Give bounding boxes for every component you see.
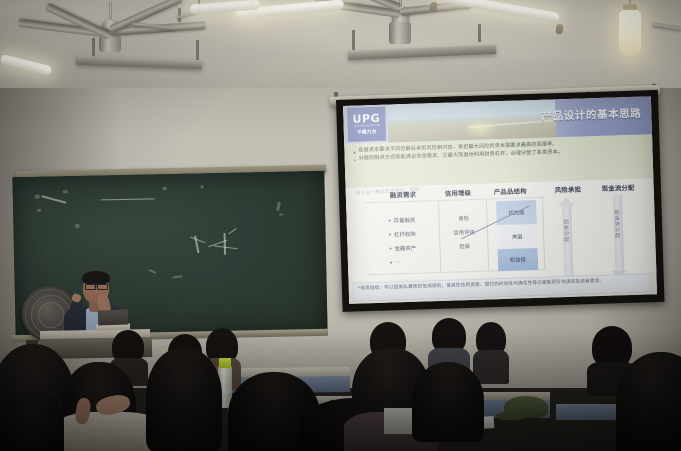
student-foreground bbox=[412, 362, 484, 442]
diagram-rule bbox=[542, 197, 545, 269]
cap-brim bbox=[496, 412, 526, 420]
diagram-rule bbox=[438, 200, 441, 272]
presentation-slide: UPG your dreams for real 中鑫力合 产品设计的基本思路 … bbox=[343, 96, 657, 304]
tier-mezzanine: 夹层 bbox=[497, 224, 538, 249]
list-item: 保险 bbox=[443, 214, 483, 223]
column-header-risk-bearing: 风险承担 bbox=[555, 185, 582, 195]
upg-logo: UPG your dreams for real 中鑫力合 bbox=[347, 107, 386, 142]
ceiling-fan bbox=[108, 2, 112, 52]
list-item: 担保 bbox=[444, 242, 484, 251]
column-header-financing-demand: 融资需求 bbox=[390, 190, 417, 200]
tier-equity: 权益级 bbox=[498, 248, 539, 271]
pendant-lamp bbox=[619, 10, 641, 56]
cashflow-arrow: 现金流分配 bbox=[608, 195, 629, 282]
column-header-cashflow: 现金流分配 bbox=[602, 183, 635, 193]
logo-chinese-name: 中鑫力合 bbox=[357, 129, 377, 136]
beam-hanger bbox=[352, 30, 355, 50]
glasses-bridge bbox=[94, 286, 97, 287]
tier-senior: 优先级 bbox=[496, 200, 537, 225]
chair-back bbox=[556, 404, 616, 420]
bottle-cap-green bbox=[219, 358, 231, 368]
student-with-cap bbox=[504, 392, 548, 426]
arrow-label-cashflow-allocation: 现金流分配 bbox=[613, 209, 621, 238]
column-header-product-structure: 产品品结构 bbox=[494, 186, 527, 196]
diagram-rule bbox=[486, 199, 489, 271]
ceiling-fan bbox=[398, 0, 402, 52]
column-header-credit-rating: 信用增级 bbox=[445, 188, 472, 198]
beam-hanger bbox=[478, 24, 481, 42]
list-item: 杠杆收购 bbox=[389, 230, 416, 239]
classroom-scene: Tecdream UPG your dreams for real 中鑫力合 产… bbox=[0, 0, 681, 451]
product-structure-stack: 优先级 夹层 权益级 bbox=[496, 200, 538, 271]
list-item: … bbox=[390, 258, 401, 264]
projector-screen[interactable]: UPG your dreams for real 中鑫力合 产品设计的基本思路 … bbox=[343, 96, 657, 304]
slide-title: 产品设计的基本思路 bbox=[541, 106, 641, 124]
slide-diagram: 对于这个模式的注意力、风险 融资需求 信用增级 产品品结构 风险承担 现金流分配… bbox=[346, 178, 657, 282]
presenter-hair bbox=[82, 271, 110, 285]
student-foreground bbox=[146, 348, 222, 451]
beam-hanger bbox=[196, 40, 199, 60]
header-photo bbox=[387, 99, 556, 142]
student bbox=[476, 322, 506, 382]
laptop-lid bbox=[98, 309, 129, 325]
glasses-right-lens bbox=[97, 284, 108, 290]
list-item: 金融资产 bbox=[389, 244, 416, 253]
arrow-label-loss-allocation: 损失分配 bbox=[563, 219, 571, 242]
risk-bearing-arrow: 损失分配 bbox=[557, 197, 578, 278]
student-foreground bbox=[0, 392, 64, 451]
list-item: 存量融资 bbox=[388, 216, 415, 225]
